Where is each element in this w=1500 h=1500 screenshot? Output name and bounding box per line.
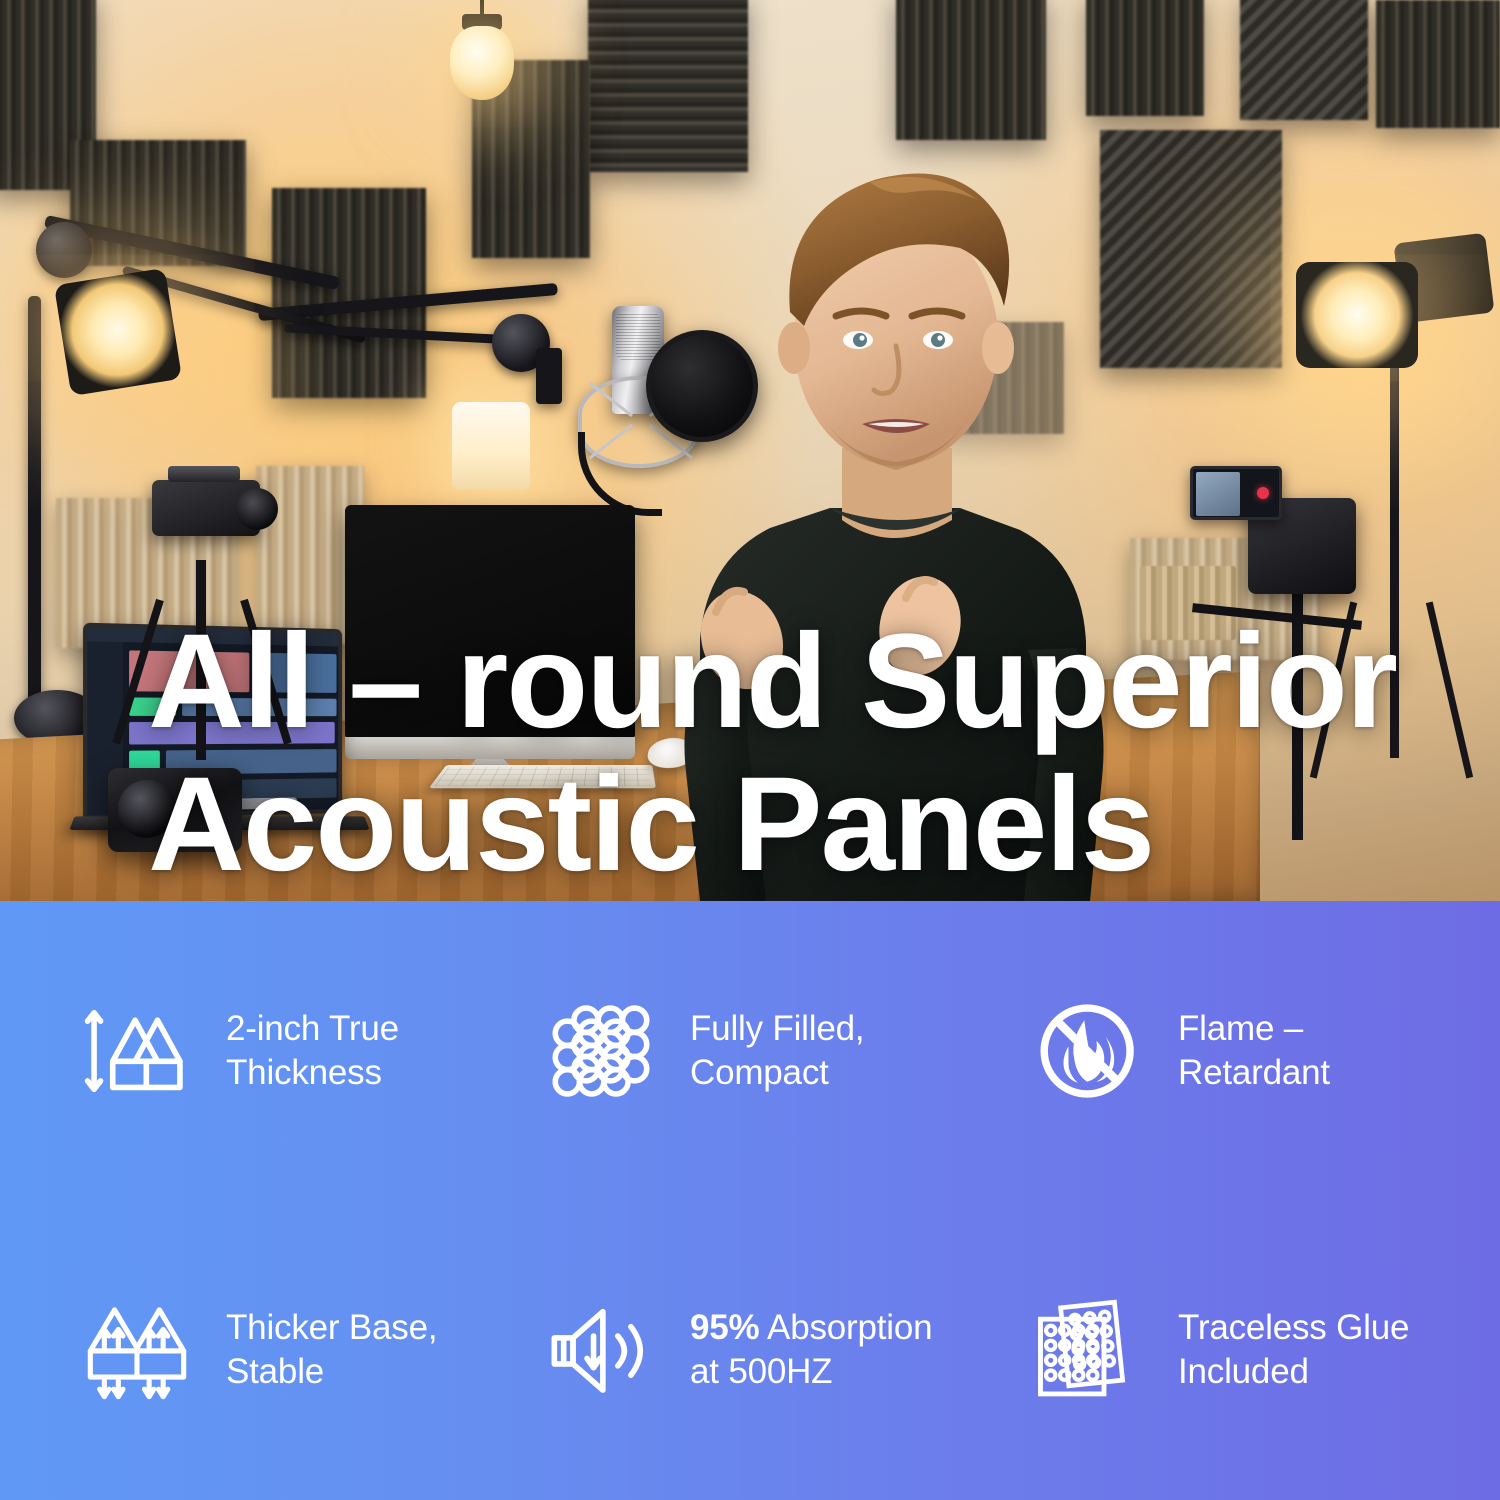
feature-line-2: Included [1178, 1350, 1409, 1394]
absorption-suffix: Absorption [759, 1308, 932, 1347]
thick-base-icon [78, 1291, 196, 1409]
feature-line-1: Traceless Glue [1178, 1306, 1409, 1350]
feature-label: Flame – Retardant [1178, 1007, 1330, 1095]
feature-line-2: Retardant [1178, 1051, 1330, 1095]
feature-band: 2-inch True Thickness [0, 901, 1500, 1500]
feature-label: Thicker Base, Stable [226, 1306, 437, 1394]
feature-line-2: Stable [226, 1350, 437, 1394]
hero-photo: All – round Superior Acoustic Panels [0, 0, 1500, 901]
feature-label: 95% Absorption at 500HZ [690, 1306, 932, 1394]
absorption-value: 95% [690, 1308, 759, 1347]
feature-grid: 2-inch True Thickness [0, 901, 1500, 1500]
speaker-absorption-icon [542, 1291, 660, 1409]
feature-line-1: 2-inch True [226, 1007, 399, 1051]
feature-line-2: Thickness [226, 1051, 399, 1095]
feature-item: Traceless Glue Included [1000, 1201, 1500, 1500]
feature-line-1: Thicker Base, [226, 1306, 437, 1350]
panel-thickness-icon [78, 992, 196, 1110]
packed-spheres-icon [542, 992, 660, 1110]
feature-item: 2-inch True Thickness [0, 901, 500, 1201]
feature-item: Thicker Base, Stable [0, 1201, 500, 1500]
feature-line-1: 95% Absorption [690, 1306, 932, 1350]
feature-item: Flame – Retardant [1000, 901, 1500, 1201]
feature-line-1: Flame – [1178, 1007, 1330, 1051]
product-feature-image: All – round Superior Acoustic Panels [0, 0, 1500, 1500]
feature-item: Fully Filled, Compact [500, 901, 1000, 1201]
feature-label: Traceless Glue Included [1178, 1306, 1409, 1394]
feature-line-2: Compact [690, 1051, 864, 1095]
feature-label: Fully Filled, Compact [690, 1007, 864, 1095]
page-title: All – round Superior Acoustic Panels [148, 614, 1398, 893]
feature-item: 95% Absorption at 500HZ [500, 1201, 1000, 1500]
adhesive-sheets-icon [1030, 1291, 1148, 1409]
feature-line-1: Fully Filled, [690, 1007, 864, 1051]
no-flame-icon [1030, 992, 1148, 1110]
feature-label: 2-inch True Thickness [226, 1007, 399, 1095]
feature-line-2: at 500HZ [690, 1350, 932, 1394]
headline-line-2: Acoustic Panels [148, 757, 1398, 894]
headline-line-1: All – round Superior [148, 614, 1398, 751]
